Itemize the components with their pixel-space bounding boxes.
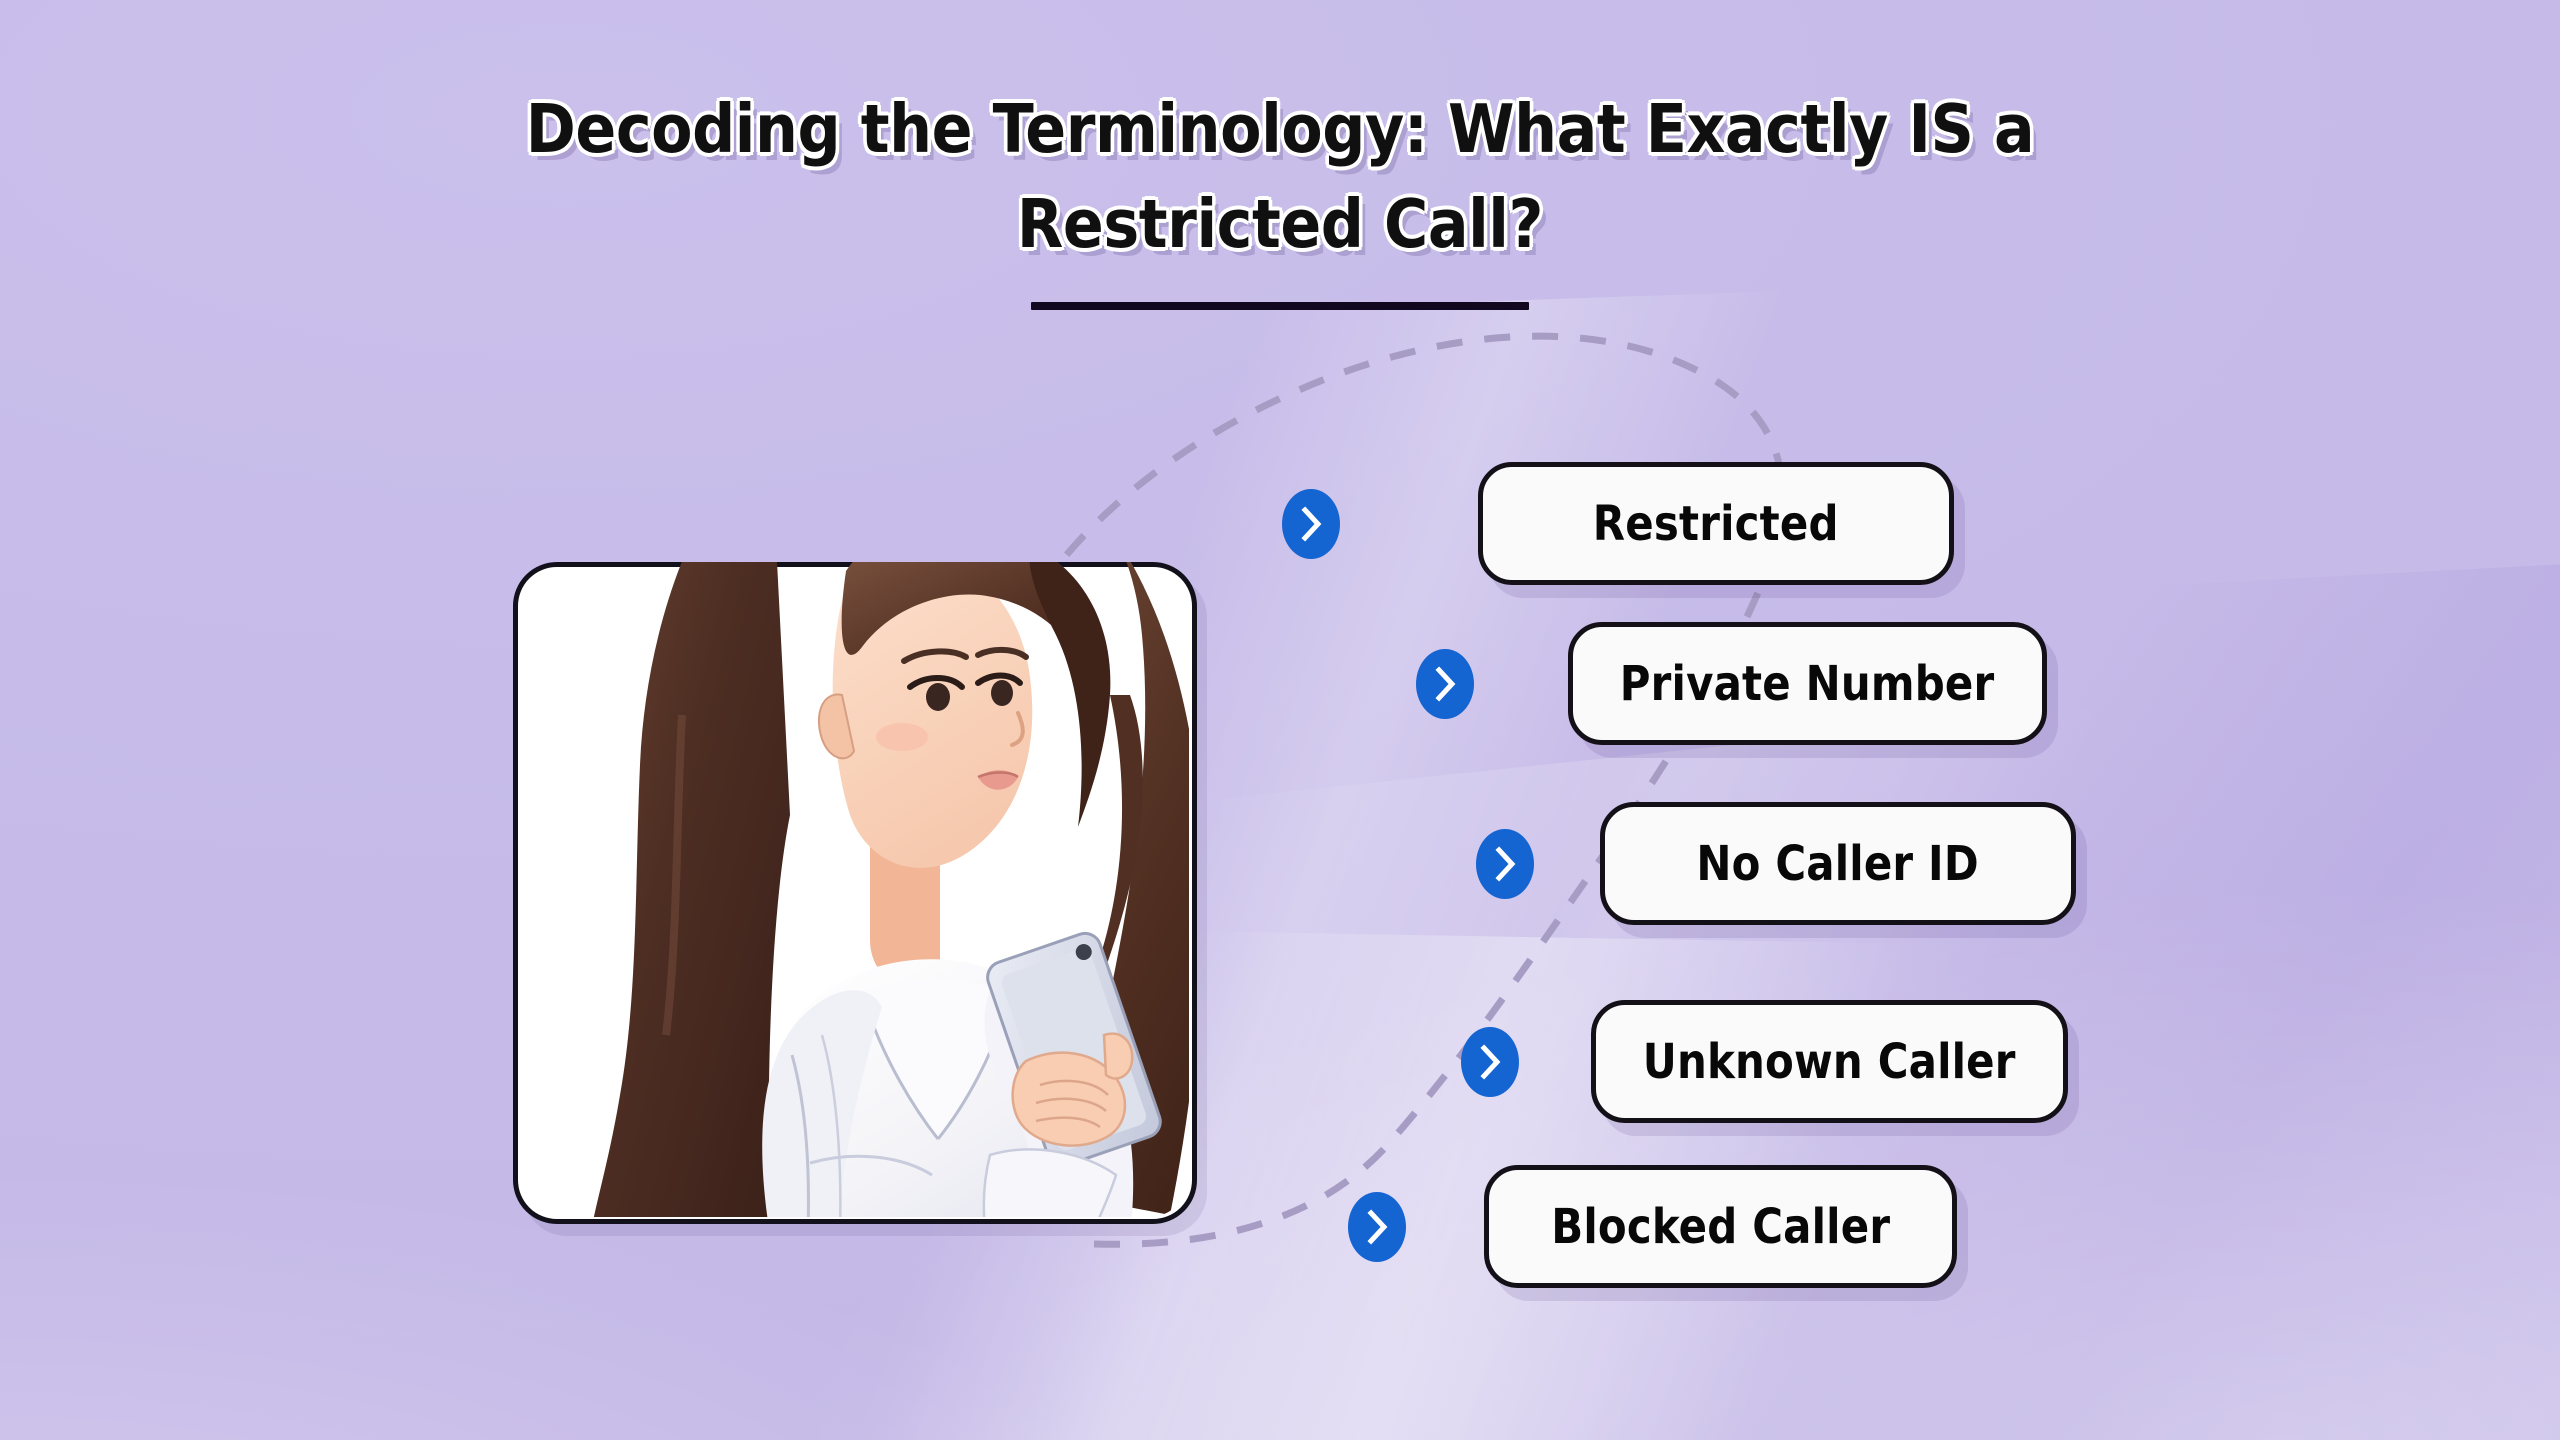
chevron-badge[interactable] — [1348, 1192, 1406, 1262]
chevron-badge[interactable] — [1416, 649, 1474, 719]
chevron-right-icon — [1297, 505, 1325, 543]
term-label: Unknown Caller — [1643, 1034, 2016, 1090]
chevron-badge[interactable] — [1461, 1027, 1519, 1097]
term-pill[interactable]: Private Number — [1568, 622, 2047, 745]
list-item[interactable]: Restricted — [1282, 462, 1954, 585]
chevron-right-icon — [1491, 845, 1519, 883]
chevron-badge[interactable] — [1282, 489, 1340, 559]
list-item[interactable]: No Caller ID — [1476, 802, 2076, 925]
chevron-right-icon — [1476, 1043, 1504, 1081]
term-label: Restricted — [1593, 496, 1839, 552]
term-label: Private Number — [1620, 656, 1995, 712]
page-title: Decoding the Terminology: What Exactly I… — [0, 82, 2560, 310]
illustration-card — [513, 562, 1197, 1224]
term-label: No Caller ID — [1697, 836, 1979, 892]
chevron-right-icon — [1431, 665, 1459, 703]
list-item[interactable]: Blocked Caller — [1348, 1165, 1957, 1288]
term-pill[interactable]: Restricted — [1478, 462, 1954, 585]
term-pill[interactable]: Unknown Caller — [1591, 1000, 2068, 1123]
chevron-right-icon — [1363, 1208, 1391, 1246]
list-item[interactable]: Unknown Caller — [1461, 1000, 2068, 1123]
term-pill[interactable]: No Caller ID — [1600, 802, 2076, 925]
list-item[interactable]: Private Number — [1416, 622, 2047, 745]
chevron-badge[interactable] — [1476, 829, 1534, 899]
title-underline-rule — [1031, 302, 1529, 310]
term-pill[interactable]: Blocked Caller — [1484, 1165, 1957, 1288]
page-title-line-1: Decoding the Terminology: What Exactly I… — [128, 82, 2432, 177]
page-title-line-2: Restricted Call? — [128, 177, 2432, 272]
term-label: Blocked Caller — [1551, 1199, 1890, 1255]
